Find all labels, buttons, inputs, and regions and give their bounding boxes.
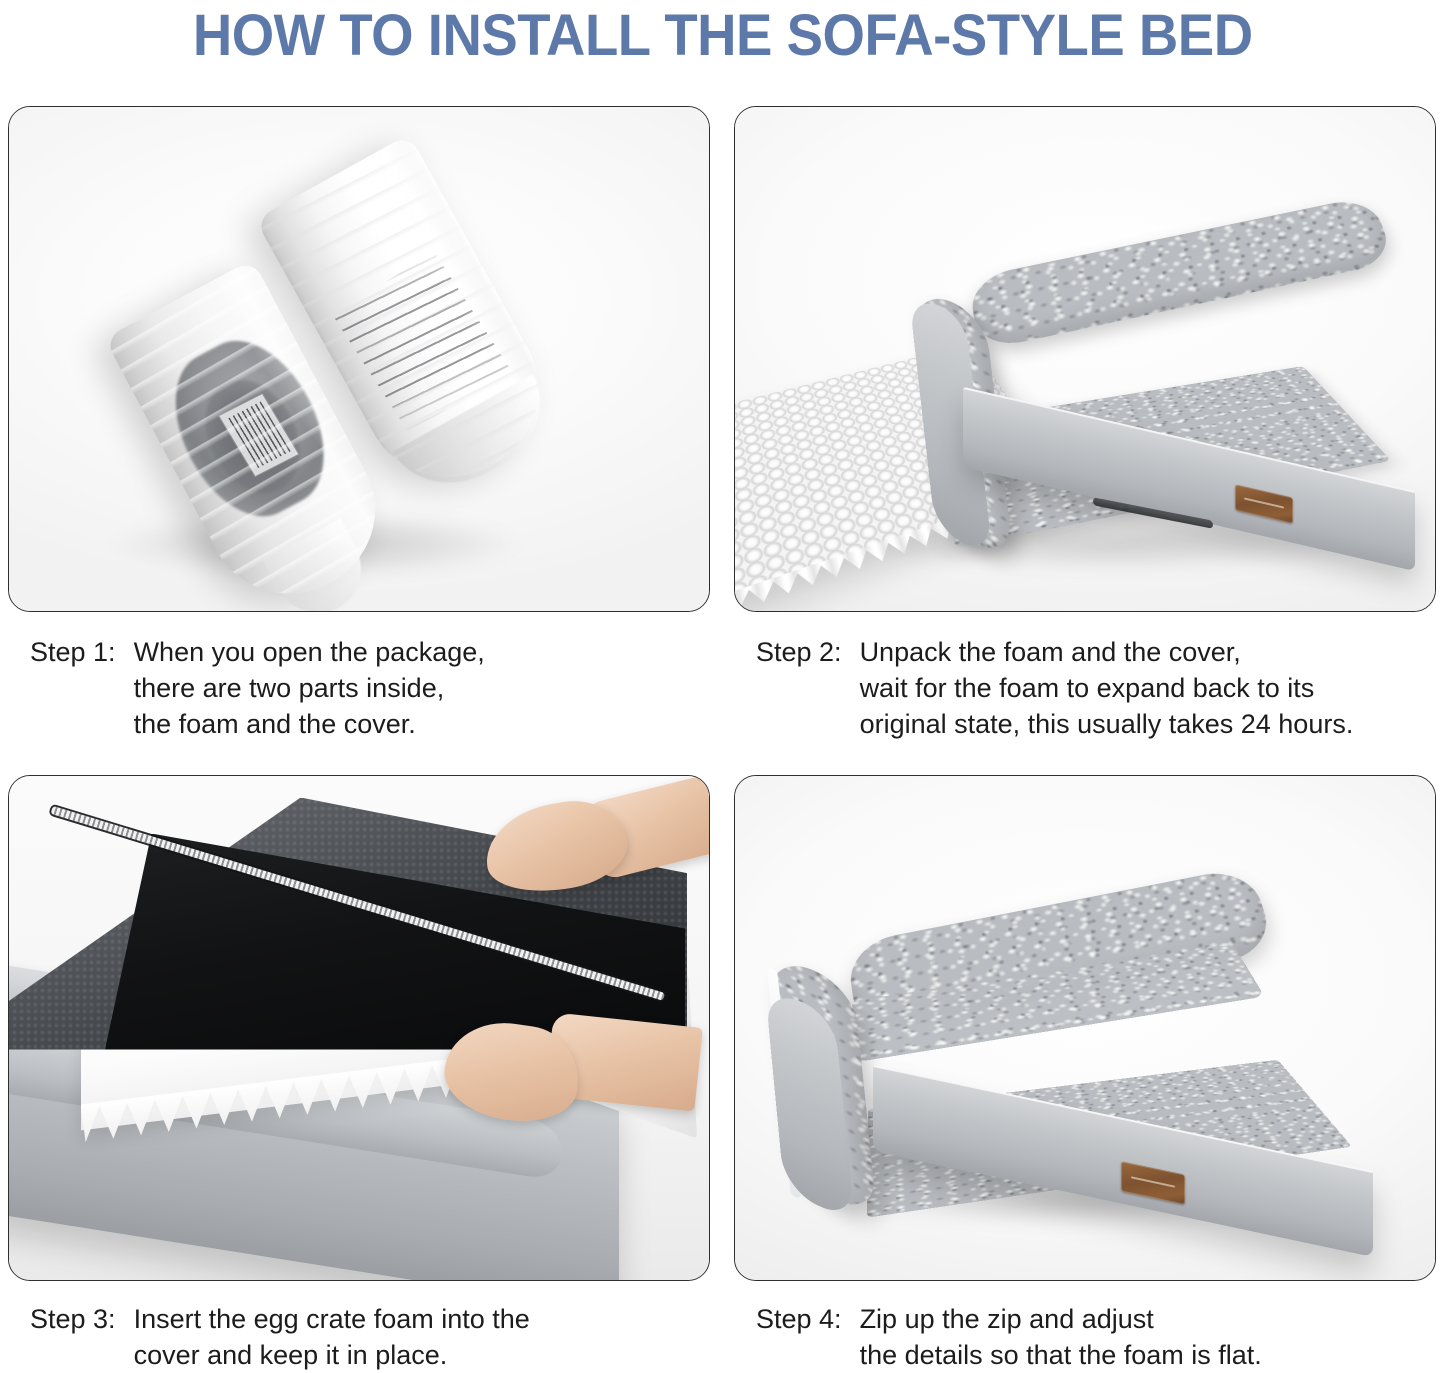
back-bolster bbox=[969, 195, 1396, 351]
cover-care-label bbox=[218, 393, 300, 477]
steps-row-top: Step 1: When you open the package, there… bbox=[8, 106, 1437, 743]
step-1-image bbox=[8, 106, 710, 612]
foam-roll-printed-text bbox=[333, 251, 510, 434]
page-title: HOW TO INSTALL THE SOFA-STYLE BED bbox=[193, 7, 1253, 65]
step-4-text: Zip up the zip and adjust the details so… bbox=[860, 1301, 1436, 1373]
steps-row-bottom: Step 3: Insert the egg crate foam into t… bbox=[8, 775, 1437, 1373]
step-card-3: Step 3: Insert the egg crate foam into t… bbox=[8, 775, 710, 1373]
step-3-image bbox=[8, 775, 710, 1281]
cover-fabric-shadow bbox=[186, 363, 318, 509]
step-card-4: Step 4: Zip up the zip and adjust the de… bbox=[734, 775, 1436, 1373]
step-1-label: Step 1: bbox=[30, 634, 134, 743]
step-1-caption: Step 1: When you open the package, there… bbox=[8, 634, 710, 743]
step-2-caption: Step 2: Unpack the foam and the cover, w… bbox=[734, 634, 1436, 743]
step-1-text: When you open the package, there are two… bbox=[134, 634, 710, 743]
step-3-text: Insert the egg crate foam into the cover… bbox=[134, 1301, 710, 1373]
finished-bed bbox=[753, 872, 1419, 1202]
bed-cover-assembly bbox=[903, 203, 1427, 555]
step-3-label: Step 3: bbox=[30, 1301, 134, 1373]
step-4-label: Step 4: bbox=[756, 1301, 860, 1373]
steps-grid: Step 1: When you open the package, there… bbox=[8, 106, 1437, 1373]
step-2-label: Step 2: bbox=[756, 634, 860, 743]
step-3-caption: Step 3: Insert the egg crate foam into t… bbox=[8, 1301, 710, 1373]
step-2-image bbox=[734, 106, 1436, 612]
step-card-1: Step 1: When you open the package, there… bbox=[8, 106, 710, 743]
step-4-caption: Step 4: Zip up the zip and adjust the de… bbox=[734, 1301, 1436, 1373]
header: HOW TO INSTALL THE SOFA-STYLE BED bbox=[0, 0, 1445, 72]
step-2-text: Unpack the foam and the cover, wait for … bbox=[860, 634, 1436, 743]
step-card-2: Step 2: Unpack the foam and the cover, w… bbox=[734, 106, 1436, 743]
step-4-image bbox=[734, 775, 1436, 1281]
